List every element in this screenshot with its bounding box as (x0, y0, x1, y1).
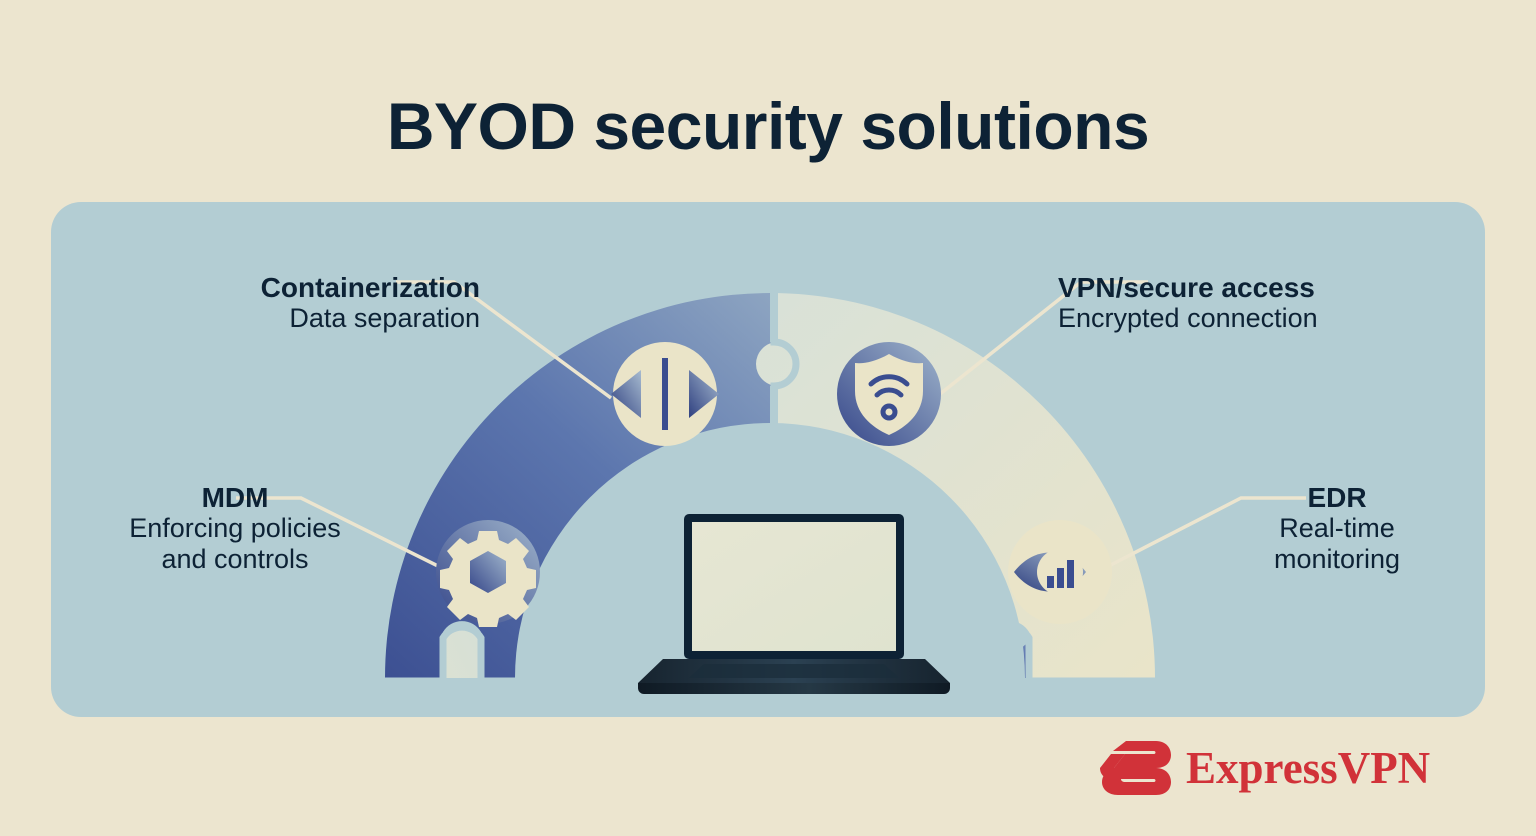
callout-mdm: MDM Enforcing policies and controls (70, 482, 400, 574)
callout-edr: EDR Real-time monitoring (1222, 482, 1452, 574)
callout-sub-edr-line2: monitoring (1222, 544, 1452, 574)
callout-containerization: Containerization Data separation (150, 272, 480, 334)
callout-sub-edr-line1: Real-time (1222, 513, 1452, 543)
icon-vpn[interactable] (837, 342, 941, 446)
expressvpn-mark-icon (1098, 737, 1172, 799)
callout-sub-vpn: Encrypted connection (1058, 303, 1398, 333)
callout-title-mdm: MDM (70, 482, 400, 513)
laptop-illustration (638, 514, 950, 694)
expressvpn-logo[interactable]: ExpressVPN (1098, 737, 1430, 799)
icon-mdm[interactable] (436, 520, 540, 627)
gear-icon (440, 531, 536, 627)
callout-title-vpn: VPN/secure access (1058, 272, 1398, 303)
page-title: BYOD security solutions (0, 88, 1536, 164)
icon-edr[interactable] (1008, 520, 1112, 624)
split-panels-icon (662, 358, 668, 430)
callout-sub-containerization: Data separation (150, 303, 480, 333)
callout-sub-mdm-line2: and controls (70, 544, 400, 574)
callout-title-containerization: Containerization (150, 272, 480, 303)
infographic-page: BYOD security solutions (0, 0, 1536, 836)
callout-vpn: VPN/secure access Encrypted connection (1058, 272, 1398, 334)
expressvpn-wordmark: ExpressVPN (1186, 746, 1430, 791)
callout-sub-mdm-line1: Enforcing policies (70, 513, 400, 543)
callout-title-edr: EDR (1222, 482, 1452, 513)
